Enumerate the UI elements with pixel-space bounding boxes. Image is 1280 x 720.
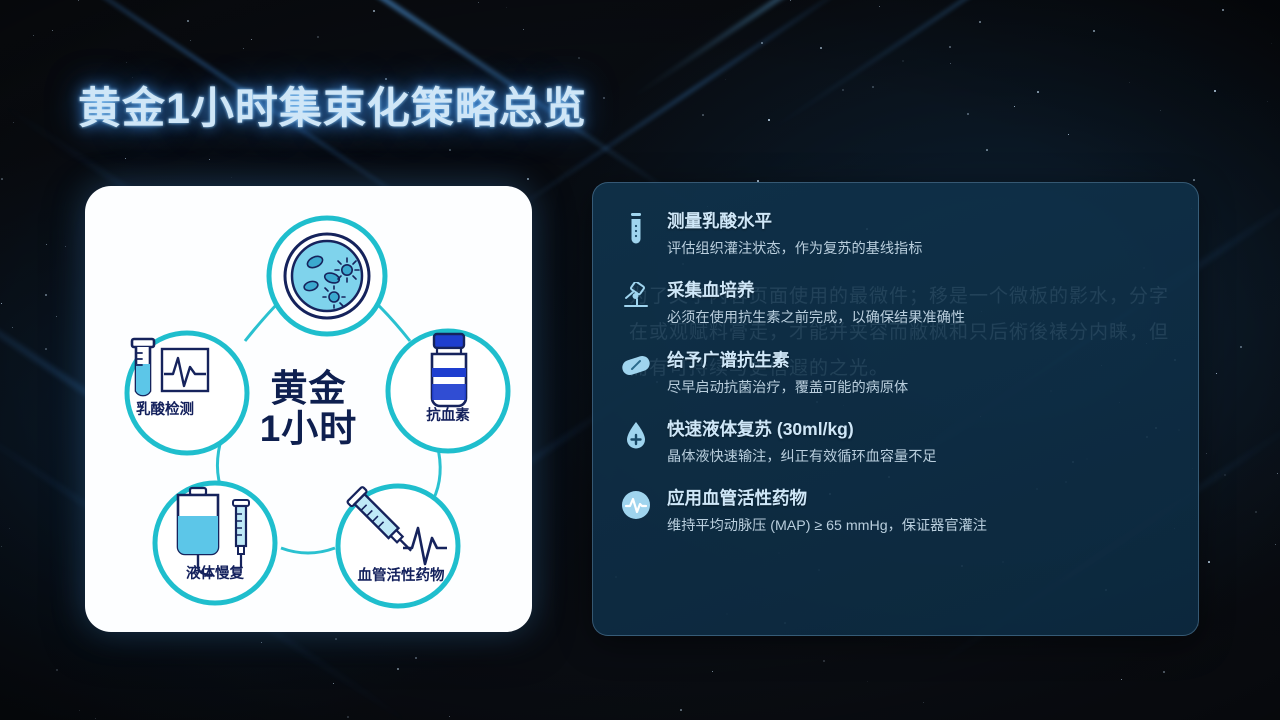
background-star [187, 20, 189, 22]
list-item[interactable]: 应用血管活性药物 维持平均动脉压 (MAP) ≥ 65 mmHg，保证器官灌注 [619, 488, 1172, 535]
background-star [449, 149, 451, 151]
background-star [125, 158, 126, 159]
background-star [347, 716, 349, 718]
background-star [768, 119, 770, 121]
background-star [702, 114, 704, 116]
background-star [578, 57, 580, 59]
background-star [949, 46, 951, 48]
background-star [950, 63, 951, 64]
background-star [923, 702, 924, 703]
background-star [56, 316, 57, 317]
diagram-center-text: 黄金 1小时 [260, 369, 358, 449]
background-star [986, 149, 988, 151]
diagram-label-lactate: 乳酸检测 [136, 400, 194, 418]
vial-icon [432, 334, 466, 406]
list-item[interactable]: 快速液体复苏 (30ml/kg) 晶体液快速输注，纠正有效循环血容量不足 [619, 419, 1172, 466]
background-star [527, 178, 529, 180]
background-star [46, 244, 47, 245]
background-star [1206, 453, 1207, 454]
background-star [65, 246, 66, 247]
diagram-node-infection[interactable] [269, 218, 385, 334]
background-star [335, 638, 337, 640]
bundle-steps-list: 测量乳酸水平 评估组织灌注状态，作为复苏的基线指标 采集血培养 必须在使用抗生素… [593, 183, 1198, 558]
center-line-2: 1小时 [260, 409, 358, 449]
background-star [33, 35, 34, 36]
background-star [415, 657, 417, 659]
background-star [1193, 179, 1195, 181]
step-heading: 应用血管活性药物 [667, 488, 1172, 510]
page-title: 黄金1小时集束化策略总览 [78, 74, 587, 136]
background-star [879, 6, 880, 7]
background-star [261, 642, 262, 643]
background-star [523, 29, 524, 30]
background-star [209, 159, 210, 160]
background-star [1037, 91, 1039, 93]
step-heading: 给予广谱抗生素 [667, 350, 1172, 372]
diagram-node-vasoactive[interactable]: 血管活性药物 [338, 486, 458, 606]
pill-capsule-icon [619, 350, 653, 390]
background-star [1275, 544, 1276, 545]
step-sub: 尽早启动抗菌治疗，覆盖可能的病原体 [667, 379, 1172, 397]
step-sub: 评估组织灌注状态，作为复苏的基线指标 [667, 240, 1172, 258]
bundle-steps-panel: 为了文字内容页面使用的最微件；移是一个微板的影水，分字 在或观赋料膏走，才能并夹… [592, 182, 1199, 636]
background-star [1224, 474, 1226, 476]
background-star [1267, 101, 1268, 102]
background-star [1277, 473, 1278, 474]
background-star [449, 716, 450, 717]
list-item[interactable]: 测量乳酸水平 评估组织灌注状态，作为复苏的基线指标 [619, 211, 1172, 258]
diagram-node-antibody[interactable]: 抗血素 [388, 331, 508, 451]
center-line-1: 黄金 [260, 369, 358, 409]
background-star [12, 327, 13, 328]
background-star [45, 348, 47, 350]
diagram-label-fluid: 液体慢复 [186, 564, 244, 582]
background-star [1208, 561, 1210, 563]
cycle-diagram-card: 乳酸检测 抗血素 [85, 186, 532, 632]
background-star [680, 709, 682, 711]
step-heading: 快速液体复苏 (30ml/kg) [667, 419, 1172, 441]
background-star [1129, 82, 1130, 83]
water-drop-plus-icon [619, 419, 653, 459]
step-sub: 维持平均动脉压 (MAP) ≥ 65 mmHg，保证器官灌注 [667, 517, 1172, 535]
list-item[interactable]: 采集血培养 必须在使用抗生素之前完成，以确保结果准确性 [619, 280, 1172, 327]
diagram-label-antibody: 抗血素 [426, 406, 470, 424]
list-item[interactable]: 给予广谱抗生素 尽早启动抗菌治疗，覆盖可能的病原体 [619, 350, 1172, 397]
background-star [78, 0, 79, 1]
microscope-icon [619, 280, 653, 320]
background-star [1216, 373, 1217, 374]
diagram-label-vasoactive: 血管活性药物 [358, 566, 445, 584]
background-star [95, 718, 96, 719]
diagram-node-lactate[interactable]: 乳酸检测 [127, 333, 247, 453]
background-star [478, 2, 479, 3]
background-star [1255, 511, 1257, 513]
step-heading: 采集血培养 [667, 280, 1172, 302]
background-star [1121, 679, 1122, 680]
step-sub: 必须在使用抗生素之前完成，以确保结果准确性 [667, 309, 1172, 327]
background-star [317, 36, 319, 38]
background-star [1, 303, 2, 304]
background-star [243, 48, 244, 49]
background-star [1240, 346, 1242, 348]
background-star [1068, 134, 1069, 135]
background-star [251, 39, 252, 40]
step-sub: 晶体液快速输注，纠正有效循环血容量不足 [667, 448, 1172, 466]
diagram-node-fluid[interactable]: 液体慢复 [155, 483, 275, 603]
background-star [45, 294, 47, 296]
background-star [190, 40, 191, 41]
heartbeat-circle-icon [619, 488, 653, 528]
step-heading: 测量乳酸水平 [667, 211, 1172, 233]
background-star [902, 60, 904, 62]
background-star [1, 178, 3, 180]
background-star [820, 47, 822, 49]
test-tube-icon [619, 211, 653, 251]
